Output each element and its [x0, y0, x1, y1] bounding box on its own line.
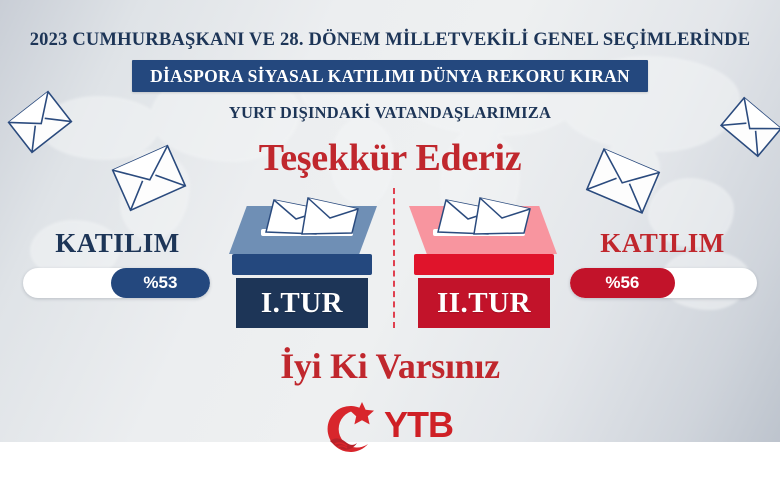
- ytb-crescent-star-handshake-icon: [322, 398, 384, 456]
- ytb-logo-text: YTB: [384, 404, 453, 446]
- participation-value-round-1: %53: [143, 273, 177, 293]
- participation-fill-round-2: %56: [570, 268, 675, 298]
- ballot-envelope-stack-round-2: [430, 192, 538, 236]
- ballot-band-round-1: [232, 254, 372, 275]
- participation-label-round-1: KATILIM: [0, 228, 235, 259]
- ballot-label-round-2: II.TUR: [437, 287, 531, 320]
- participation-fill-round-1: %53: [111, 268, 210, 298]
- ballot-body-round-2: II.TUR: [418, 278, 550, 328]
- ballot-body-round-1: I.TUR: [236, 278, 368, 328]
- participation-pill-round-2: %56: [570, 268, 757, 298]
- ballot-envelope-stack-round-1: [258, 192, 366, 236]
- ytb-logo: YTB: [322, 398, 462, 456]
- ballot-band-round-2: [414, 254, 554, 275]
- headline-banner: DİASPORA SİYASAL KATILIMI DÜNYA REKORU K…: [132, 60, 648, 92]
- headline-banner-label: DİASPORA SİYASAL KATILIMI DÜNYA REKORU K…: [150, 66, 630, 87]
- center-dashed-divider: [393, 188, 395, 328]
- ballot-label-round-1: I.TUR: [261, 287, 343, 320]
- headline-line-1: 2023 CUMHURBAŞKANI VE 28. DÖNEM MİLLETVE…: [0, 30, 780, 51]
- closing-heading: İyi Ki Varsınız: [0, 345, 780, 387]
- participation-label-round-2: KATILIM: [545, 228, 780, 259]
- poster-canvas: 2023 CUMHURBAŞKANI VE 28. DÖNEM MİLLETVE…: [0, 0, 780, 490]
- participation-value-round-2: %56: [605, 273, 639, 293]
- participation-pill-round-1: %53: [23, 268, 210, 298]
- headline-line-3: YURT DIŞINDAKİ VATANDAŞLARIMIZA: [0, 103, 780, 123]
- thanks-heading: Teşekkür Ederiz: [0, 136, 780, 180]
